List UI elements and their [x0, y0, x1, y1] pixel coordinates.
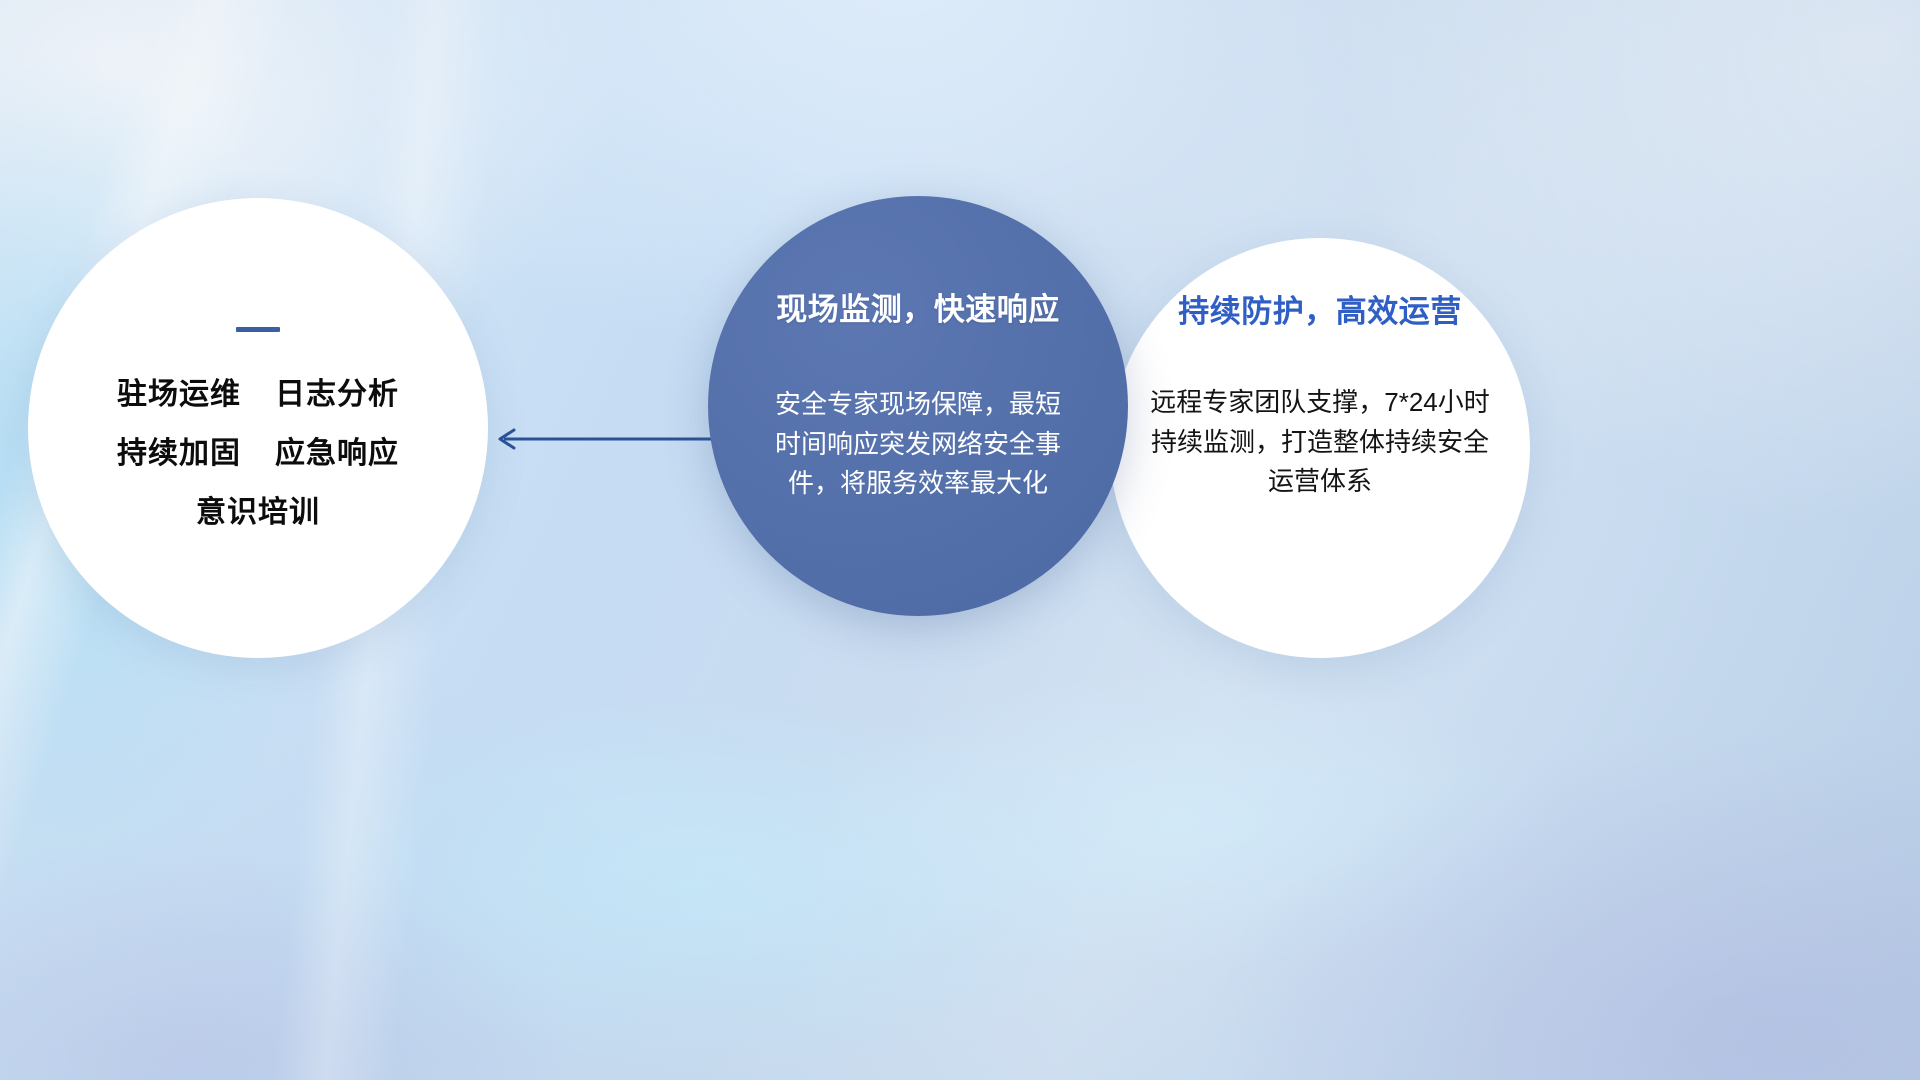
blue-dash-accent-icon: [236, 327, 280, 332]
diagram-stage: 驻场运维 日志分析 持续加固 应急响应 意识培训 持续防护，高效运营 远程专家团…: [0, 0, 1920, 1080]
onsite-monitoring-circle[interactable]: 现场监测，快速响应 安全专家现场保障，最短时间响应突发网络安全事件，将服务效率最…: [708, 196, 1128, 616]
onsite-monitoring-content: 现场监测，快速响应 安全专家现场保障，最短时间响应突发网络安全事件，将服务效率最…: [708, 196, 1128, 616]
onsite-monitoring-title: 现场监测，快速响应: [776, 284, 1060, 329]
capability-tag[interactable]: 日志分析: [275, 378, 399, 411]
capability-tag[interactable]: 持续加固: [117, 437, 241, 470]
capabilities-circle[interactable]: 驻场运维 日志分析 持续加固 应急响应 意识培训: [28, 198, 488, 658]
capability-tag[interactable]: 驻场运维: [117, 378, 241, 411]
continuous-operation-title: 持续防护，高效运营: [1178, 286, 1462, 331]
capability-tag[interactable]: 意识培训: [196, 496, 320, 529]
onsite-monitoring-body: 安全专家现场保障，最短时间响应突发网络安全事件，将服务效率最大化: [763, 385, 1073, 504]
connector-arrow: [488, 418, 718, 460]
capability-row-2: 持续加固 应急响应: [117, 437, 399, 470]
capability-row-1: 驻场运维 日志分析: [117, 378, 399, 411]
capability-row-3: 意识培训: [196, 496, 320, 529]
capability-tag[interactable]: 应急响应: [275, 437, 399, 470]
continuous-operation-body: 远程专家团队支撑，7*24小时持续监测，打造整体持续安全运营体系: [1140, 383, 1500, 502]
continuous-operation-content: 持续防护，高效运营 远程专家团队支撑，7*24小时持续监测，打造整体持续安全运营…: [1110, 238, 1530, 658]
capabilities-content: 驻场运维 日志分析 持续加固 应急响应 意识培训: [28, 198, 488, 658]
continuous-operation-circle[interactable]: 持续防护，高效运营 远程专家团队支撑，7*24小时持续监测，打造整体持续安全运营…: [1110, 238, 1530, 658]
left-arrow-icon: [488, 418, 718, 460]
